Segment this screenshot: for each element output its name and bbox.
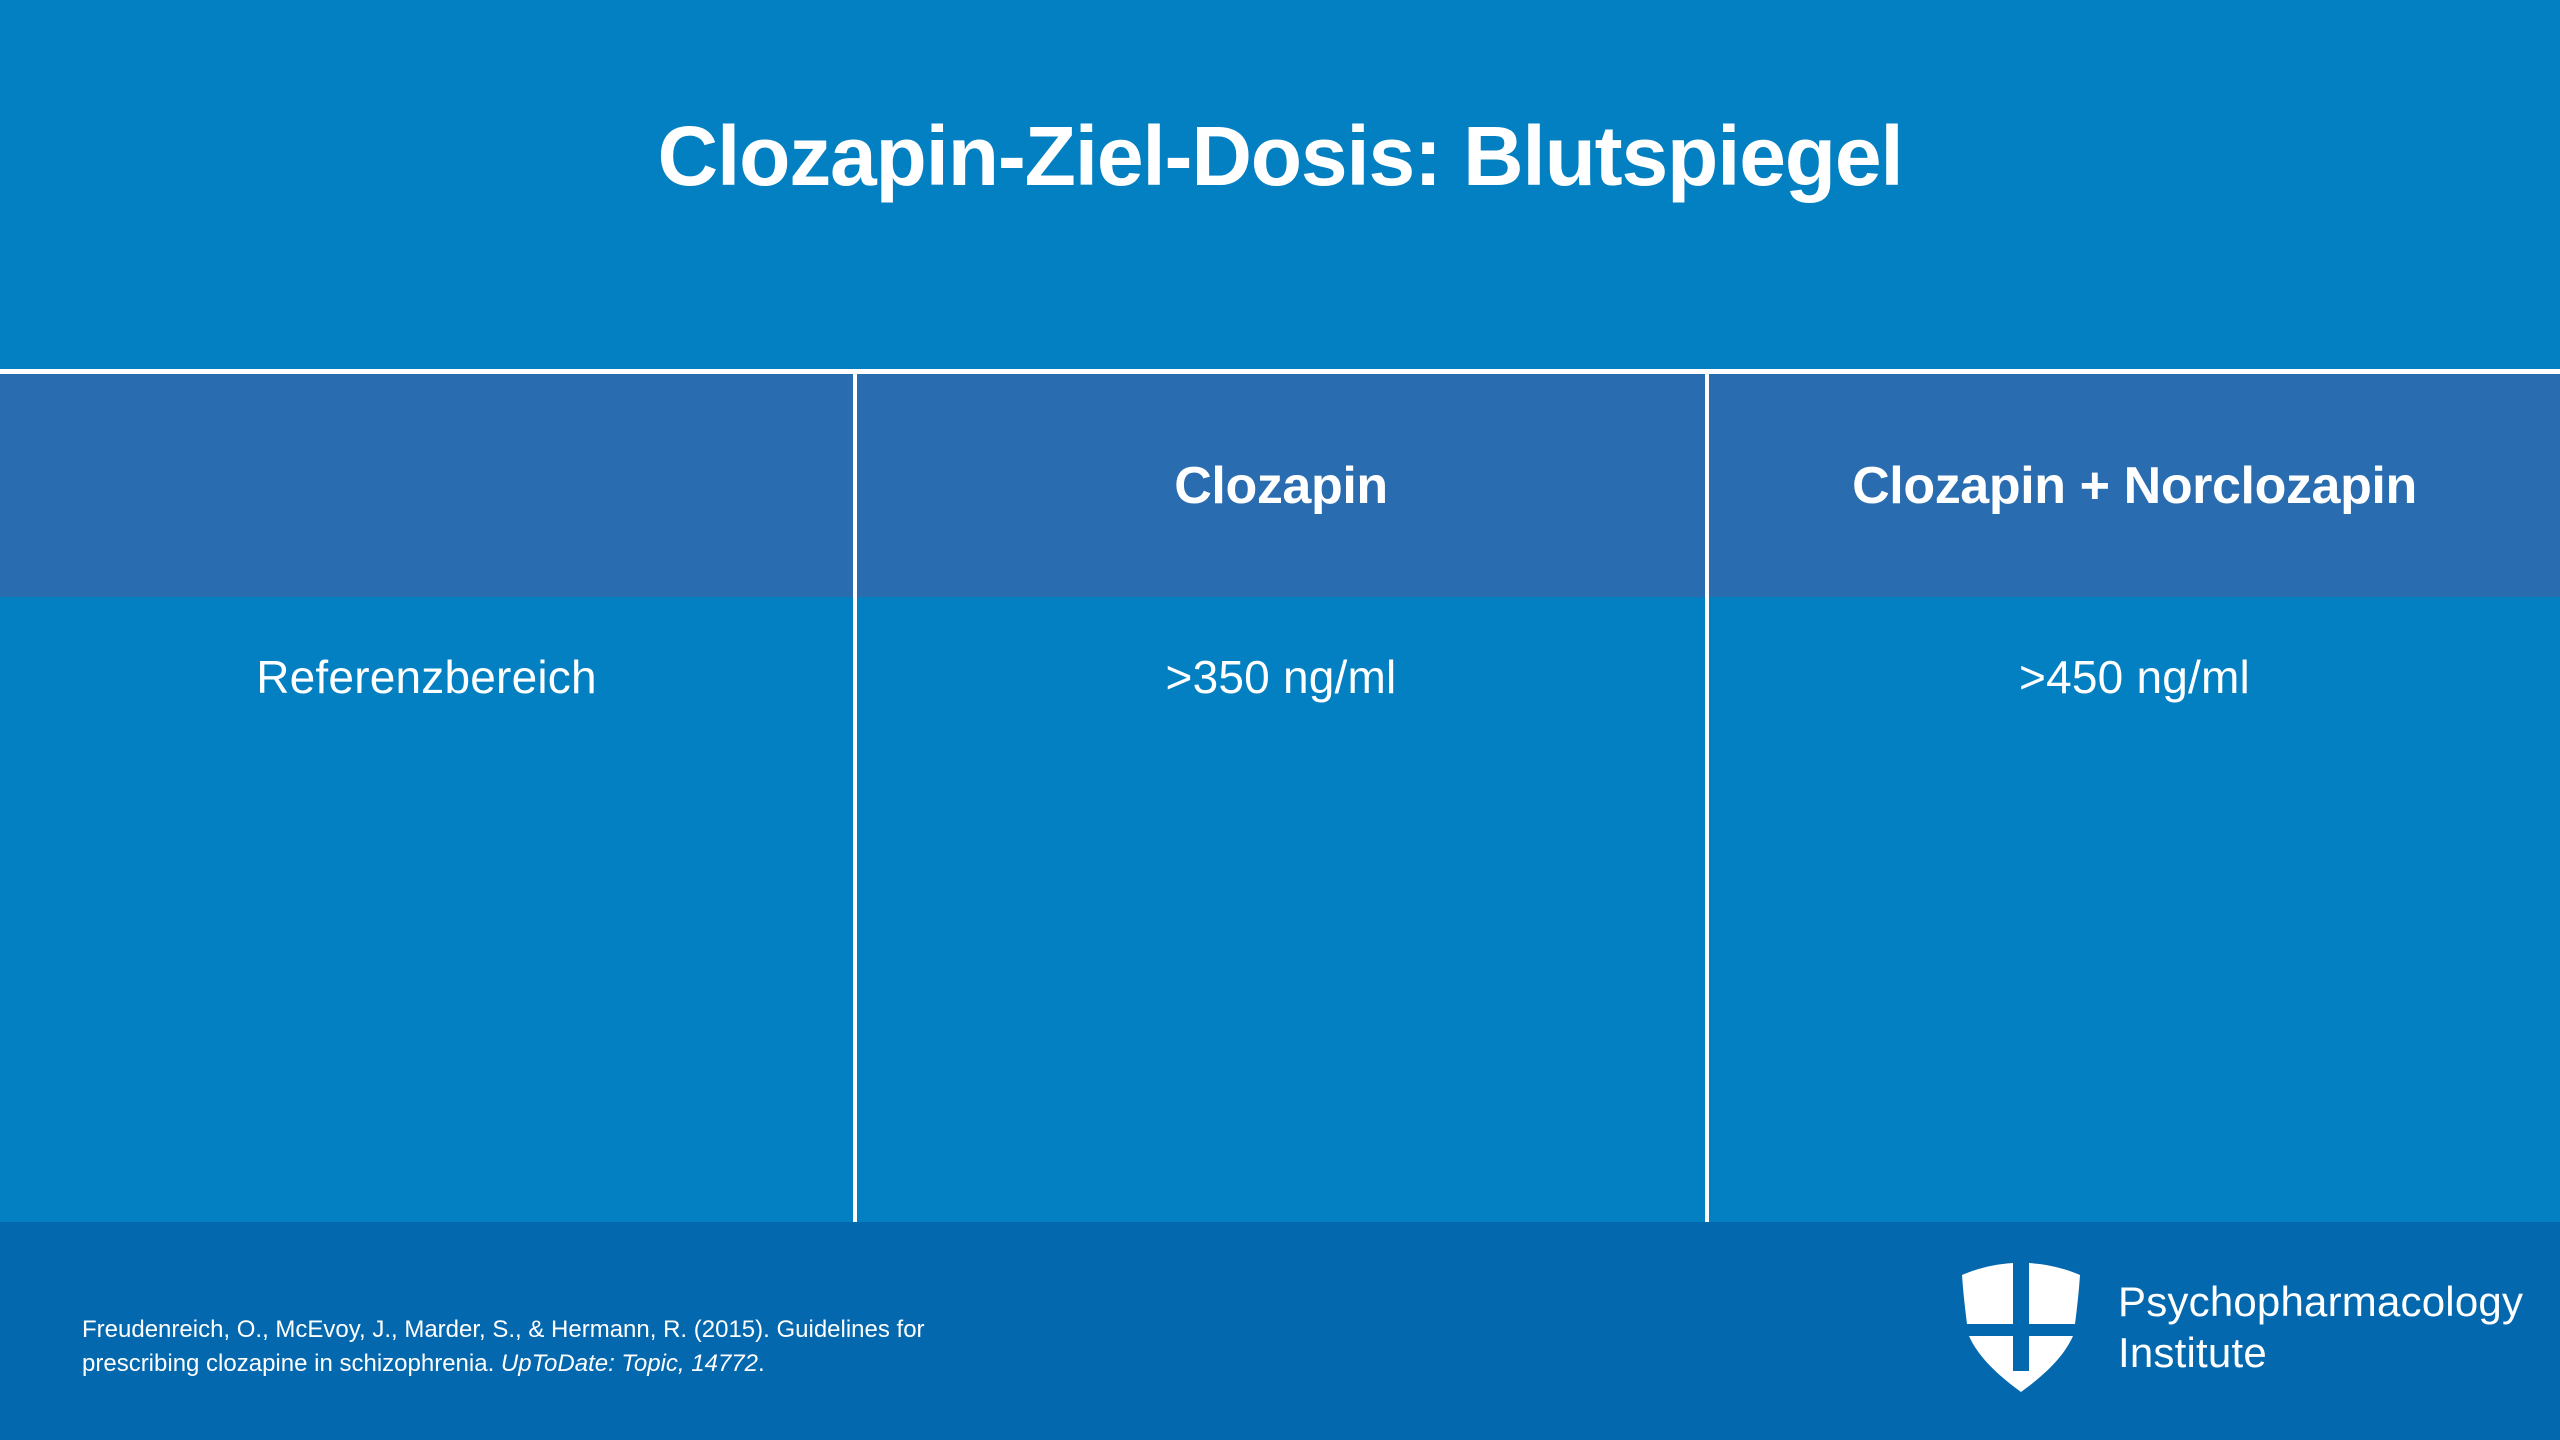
table-row: Referenzbereich >350 ng/ml >450 ng/ml [0,597,2560,1222]
citation-source-italic: UpToDate: Topic, 14772 [501,1350,758,1377]
brand-logo-text: Psychopharmacology Institute [2118,1276,2523,1378]
title-band: Clozapin-Ziel-Dosis: Blutspiegel [0,0,2560,369]
slide-canvas: Clozapin-Ziel-Dosis: Blutspiegel Clozapi… [0,0,2560,1440]
table-cell-clozapin-value: >350 ng/ml [857,597,1705,757]
brand-logo-line-2: Institute [2118,1327,2523,1378]
table-header-row: Clozapin Clozapin + Norclozapin [0,374,2560,597]
brand-logo: Psychopharmacology Institute [1958,1262,2538,1392]
shield-cross-icon [1958,1261,2084,1393]
table-cell-row-label: Referenzbereich [0,597,853,757]
data-table: Clozapin Clozapin + Norclozapin Referenz… [0,374,2560,1222]
column-divider-1 [853,374,857,1222]
table-header-cell-clozapin: Clozapin [857,374,1705,597]
column-divider-2 [1705,374,1709,1222]
table-header-cell-clozapin-norclozapin: Clozapin + Norclozapin [1709,374,2560,597]
brand-logo-line-1: Psychopharmacology [2118,1276,2523,1327]
citation-part-3: . [758,1350,765,1377]
citation-text: Freudenreich, O., McEvoy, J., Marder, S.… [82,1313,1042,1381]
page-title: Clozapin-Ziel-Dosis: Blutspiegel [0,112,2560,200]
table-cell-clozapin-norclozapin-value: >450 ng/ml [1709,597,2560,757]
table-header-cell-row-label [0,374,853,597]
